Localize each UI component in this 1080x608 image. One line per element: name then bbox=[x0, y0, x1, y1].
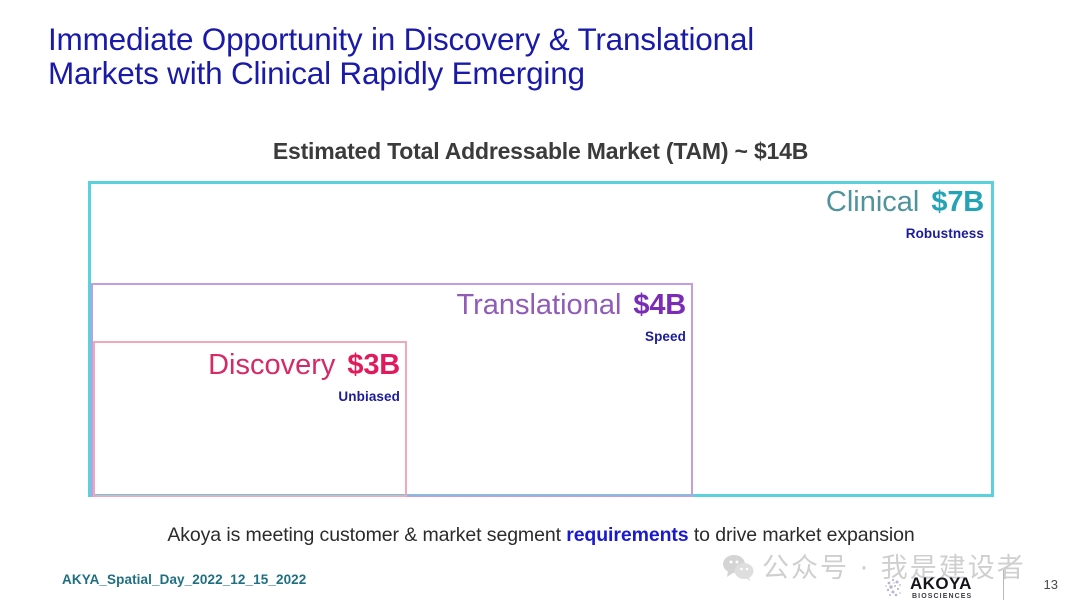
segment-name-clinical: Clinical bbox=[826, 186, 919, 218]
segment-name-translational: Translational bbox=[456, 289, 621, 321]
segment-value-clinical: $7B bbox=[931, 186, 984, 218]
segment-attribute-discovery: Unbiased bbox=[60, 389, 400, 404]
segment-attribute-translational: Speed bbox=[300, 329, 686, 344]
deck-id-label: AKYA_Spatial_Day_2022_12_15_2022 bbox=[62, 572, 306, 587]
segment-value-discovery: $3B bbox=[347, 349, 400, 381]
caption-highlight: requirements bbox=[566, 524, 688, 546]
segment-row-discovery: Discovery$3B bbox=[60, 351, 400, 380]
logo-divider bbox=[1003, 570, 1004, 600]
segment-label-clinical: Clinical$7B Robustness bbox=[560, 188, 984, 241]
slide-caption: Akoya is meeting customer & market segme… bbox=[88, 524, 994, 547]
segment-name-discovery: Discovery bbox=[208, 349, 335, 381]
segment-label-discovery: Discovery$3B Unbiased bbox=[60, 351, 400, 404]
tam-diagram: Clinical$7B Robustness Translational$4B … bbox=[0, 0, 1080, 608]
slide-canvas: Immediate Opportunity in Discovery & Tra… bbox=[0, 0, 1080, 608]
akoya-wordmark: AKOYA bbox=[910, 575, 972, 592]
page-number: 13 bbox=[1044, 577, 1058, 592]
caption-text-after: to drive market expansion bbox=[689, 524, 915, 546]
segment-attribute-clinical: Robustness bbox=[560, 226, 984, 241]
segment-value-translational: $4B bbox=[633, 289, 686, 321]
akoya-tagline: BIOSCIENCES bbox=[912, 593, 972, 600]
segment-row-clinical: Clinical$7B bbox=[560, 188, 984, 217]
akoya-logo: AKOYA BIOSCIENCES bbox=[884, 574, 992, 604]
akoya-speckle-icon bbox=[884, 576, 908, 600]
caption-text-before: Akoya is meeting customer & market segme… bbox=[167, 524, 566, 546]
segment-row-translational: Translational$4B bbox=[300, 291, 686, 320]
segment-label-translational: Translational$4B Speed bbox=[300, 291, 686, 344]
